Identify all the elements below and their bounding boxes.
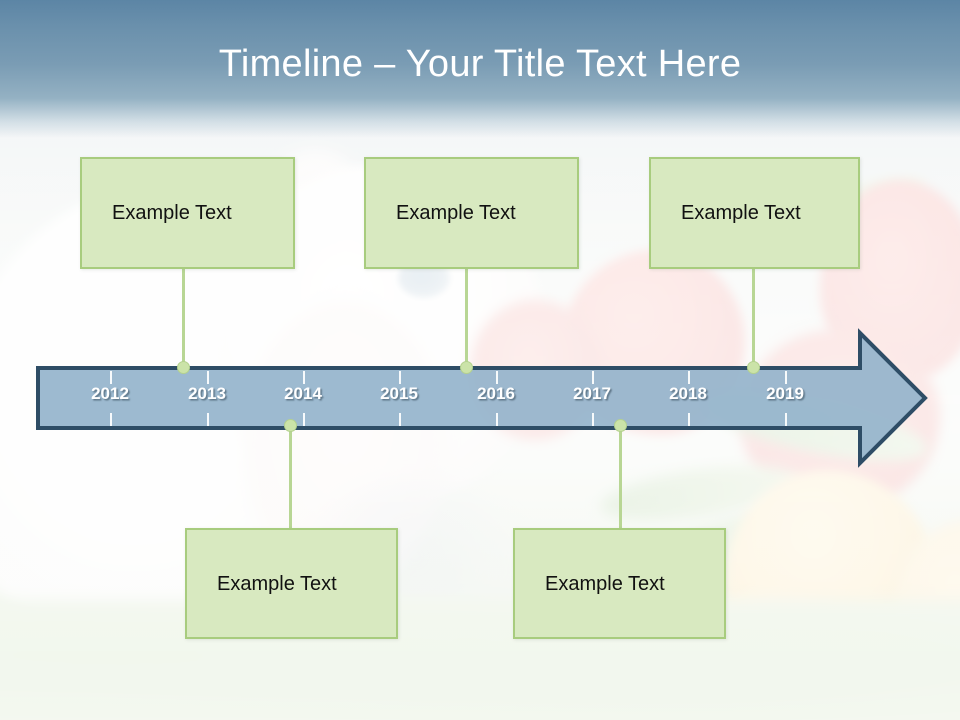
callout-text: Example Text [217,571,337,597]
year-tick [110,413,112,426]
timeline-slide: Timeline – Your Title Text Here 2012 201… [0,0,960,720]
year-label-2016: 2016 [451,383,541,405]
year-tick [688,413,690,426]
callout-connector-1 [182,268,185,366]
callout-box-below-1[interactable]: Example Text [185,528,398,639]
callout-text: Example Text [681,200,801,226]
year-label-2018: 2018 [643,383,733,405]
callout-box-above-1[interactable]: Example Text [80,157,295,269]
callout-box-above-3[interactable]: Example Text [649,157,860,269]
callout-connector-dot-1 [177,361,190,374]
callout-connector-4 [289,425,292,529]
callout-connector-5 [619,425,622,529]
year-label-2013: 2013 [162,383,252,405]
year-tick [303,413,305,426]
year-label-2019: 2019 [740,383,830,405]
year-tick [207,413,209,426]
year-tick [399,413,401,426]
year-tick [592,413,594,426]
callout-connector-3 [752,268,755,366]
year-label-2012: 2012 [65,383,155,405]
callout-text: Example Text [396,200,516,226]
year-label-2014: 2014 [258,383,348,405]
year-label-2017: 2017 [547,383,637,405]
year-tick [496,413,498,426]
year-tick [785,413,787,426]
callout-text: Example Text [112,200,232,226]
callout-text: Example Text [545,571,665,597]
page-title: Timeline – Your Title Text Here [0,40,960,88]
callout-connector-2 [465,268,468,366]
year-label-2015: 2015 [354,383,444,405]
callout-connector-dot-2 [460,361,473,374]
callout-connector-dot-5 [614,419,627,432]
callout-connector-dot-3 [747,361,760,374]
callout-connector-dot-4 [284,419,297,432]
callout-box-above-2[interactable]: Example Text [364,157,579,269]
callout-box-below-2[interactable]: Example Text [513,528,726,639]
